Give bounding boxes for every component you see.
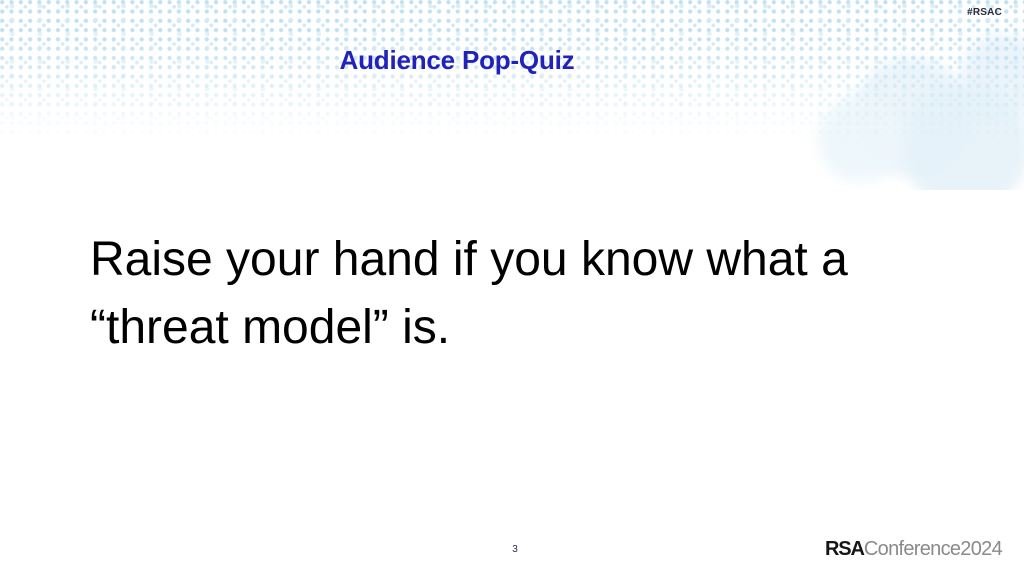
presentation-slide: #RSAC Audience Pop-Quiz Raise your hand … — [0, 0, 1024, 576]
decorative-circle-icon — [902, 82, 1024, 190]
body-line-2: “threat model” is. — [90, 294, 940, 362]
header-decoration-band — [0, 0, 1024, 190]
rsa-logo-mark: RSA — [825, 539, 864, 559]
decorative-circle-icon — [818, 96, 904, 182]
body-line-1: Raise your hand if you know what a — [90, 226, 940, 294]
decorative-circle-icon — [962, 34, 1024, 118]
rsa-conference-logo: RSA Conference2024 — [825, 539, 1002, 559]
slide-body: Raise your hand if you know what a “thre… — [90, 226, 940, 362]
slide-title: Audience Pop-Quiz — [0, 44, 914, 76]
rsa-logo-wordmark: Conference2024 — [864, 539, 1002, 559]
event-hashtag: #RSAC — [967, 6, 1002, 20]
